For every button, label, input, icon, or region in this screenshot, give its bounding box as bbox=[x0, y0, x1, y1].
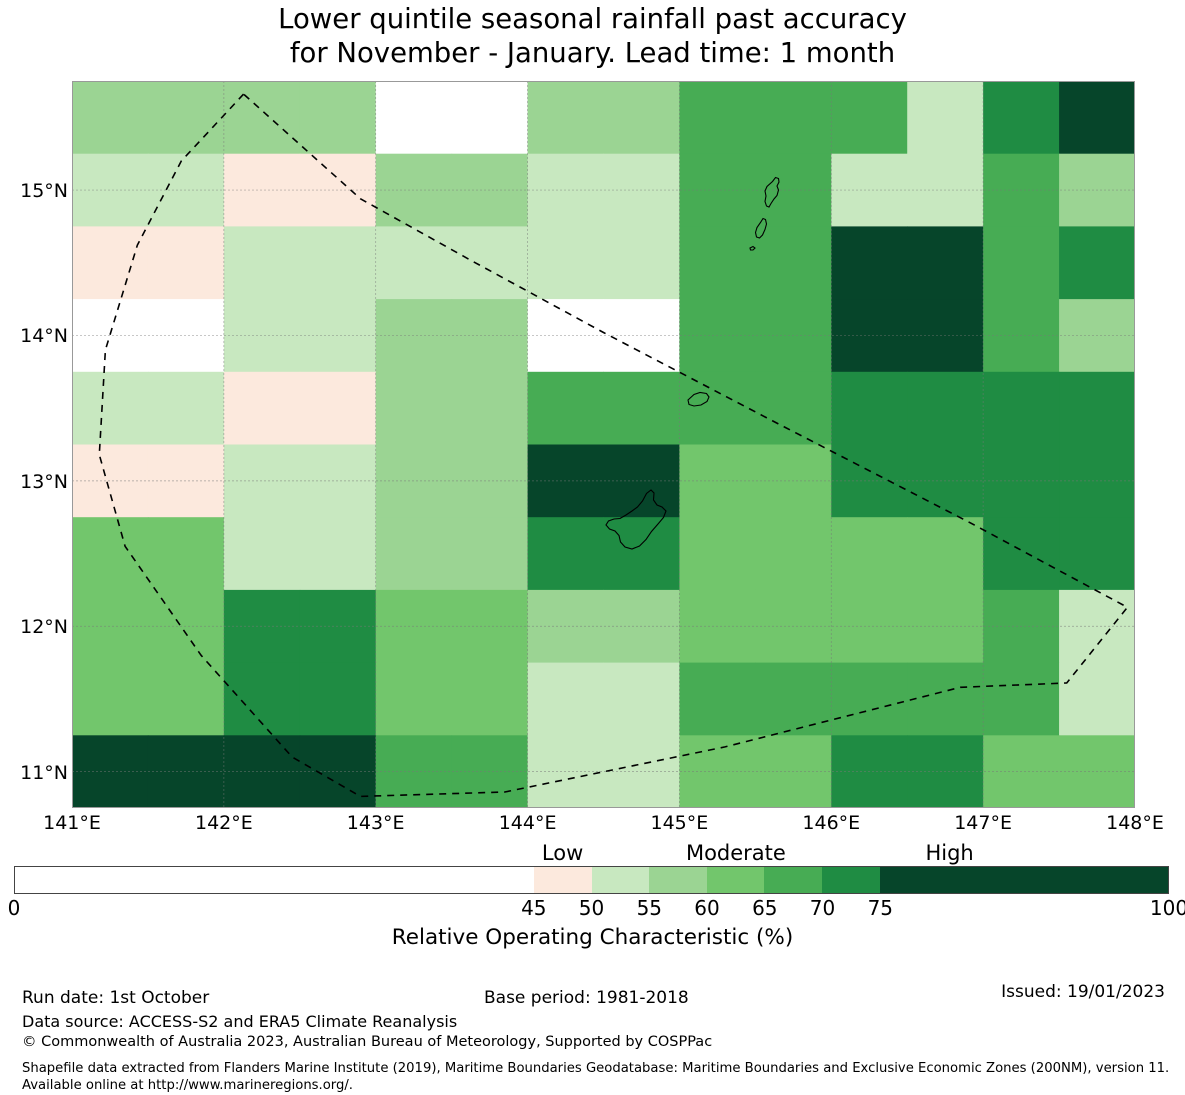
map-overlay bbox=[72, 81, 1135, 808]
eez-boundary-line bbox=[99, 94, 1127, 796]
island-saipan-path bbox=[765, 178, 779, 208]
colorbar-segment bbox=[880, 867, 1168, 893]
x-axis-labels: 141°E142°E143°E144°E145°E146°E147°E148°E bbox=[72, 812, 1135, 840]
footer-data-source: Data source: ACCESS-S2 and ERA5 Climate … bbox=[22, 1012, 457, 1031]
island-rota-path bbox=[688, 393, 709, 407]
colorbar-tick-label: 75 bbox=[868, 896, 893, 920]
x-axis-tick-label: 148°E bbox=[1106, 812, 1164, 834]
colorbar-tick-label: 100 bbox=[1150, 896, 1185, 920]
colorbar-segment bbox=[592, 867, 650, 893]
x-axis-tick-label: 145°E bbox=[651, 812, 709, 834]
chart-title: Lower quintile seasonal rainfall past ac… bbox=[0, 2, 1185, 70]
colorbar-tick-label: 70 bbox=[810, 896, 835, 920]
colorbar-tick-label: 65 bbox=[752, 896, 777, 920]
colorbar-segment bbox=[534, 867, 592, 893]
island-aguijan-path bbox=[750, 247, 755, 251]
footer-base-period: Base period: 1981-2018 bbox=[484, 988, 689, 1008]
island-guam-path bbox=[606, 490, 666, 549]
gridlines bbox=[72, 81, 1135, 808]
colorbar-tick-label: 0 bbox=[8, 896, 21, 920]
colorbar-tick-label: 50 bbox=[579, 896, 604, 920]
colorbar-segment bbox=[15, 867, 534, 893]
x-axis-tick-label: 143°E bbox=[347, 812, 405, 834]
y-axis-tick-label: 15°N bbox=[6, 180, 68, 202]
x-axis-tick-label: 144°E bbox=[499, 812, 557, 834]
x-axis-tick-label: 142°E bbox=[195, 812, 253, 834]
colorbar-axis-label: Relative Operating Characteristic (%) bbox=[0, 925, 1185, 950]
colorbar-segment bbox=[764, 867, 822, 893]
chart-root: Lower quintile seasonal rainfall past ac… bbox=[0, 0, 1185, 1095]
island-tinian-path bbox=[756, 219, 767, 239]
footer-copyright: © Commonwealth of Australia 2023, Austra… bbox=[22, 1034, 712, 1050]
colorbar-category-label: High bbox=[925, 841, 973, 865]
colorbar-tick-labels: 045505560657075100 bbox=[0, 896, 1185, 922]
colorbar-category-labels: LowModerateHigh bbox=[0, 841, 1185, 867]
x-axis-tick-label: 141°E bbox=[43, 812, 101, 834]
footer-run-date: Run date: 1st October bbox=[22, 988, 209, 1008]
y-axis-tick-label: 13°N bbox=[6, 471, 68, 493]
colorbar-segment bbox=[822, 867, 880, 893]
colorbar-segment bbox=[649, 867, 707, 893]
map-plot-area bbox=[72, 81, 1135, 808]
colorbar-tick-label: 45 bbox=[521, 896, 546, 920]
colorbar-category-label: Moderate bbox=[686, 841, 786, 865]
footer-shapefile-note: Shapefile data extracted from Flanders M… bbox=[22, 1060, 1172, 1094]
island-outlines bbox=[606, 178, 779, 550]
y-axis-tick-label: 11°N bbox=[6, 762, 68, 784]
footer-issued-date: Issued: 19/01/2023 bbox=[1001, 982, 1165, 1002]
colorbar-category-label: Low bbox=[542, 841, 583, 865]
y-axis-labels: 15°N14°N13°N12°N11°N bbox=[0, 81, 68, 808]
x-axis-tick-label: 146°E bbox=[802, 812, 860, 834]
colorbar bbox=[14, 866, 1169, 894]
y-axis-tick-label: 12°N bbox=[6, 616, 68, 638]
x-axis-tick-label: 147°E bbox=[954, 812, 1012, 834]
y-axis-tick-label: 14°N bbox=[6, 325, 68, 347]
colorbar-tick-label: 55 bbox=[637, 896, 662, 920]
footer: Run date: 1st October Base period: 1981-… bbox=[0, 980, 1185, 1095]
colorbar-tick-label: 60 bbox=[694, 896, 719, 920]
colorbar-segment bbox=[707, 867, 765, 893]
